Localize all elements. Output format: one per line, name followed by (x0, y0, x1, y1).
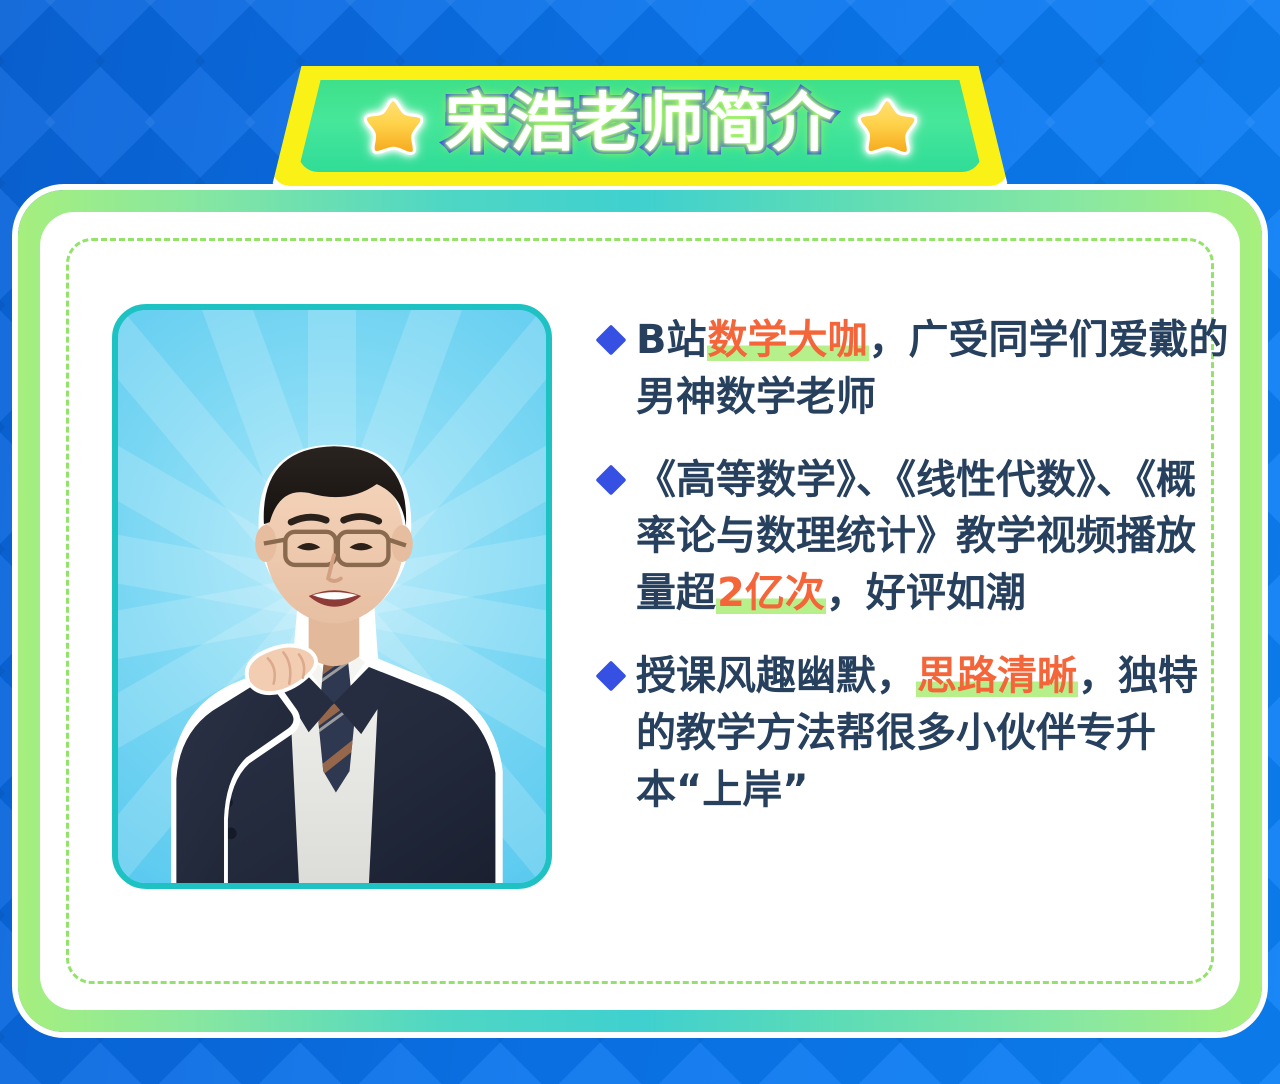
bullet-2-highlight: 2亿次 (716, 570, 826, 616)
teacher-figure-illustration (118, 310, 546, 883)
bullet-text-3: 授课风趣幽默，思路清晰，独特的教学方法帮很多小伙伴专升本“上岸” (636, 648, 1230, 818)
list-item: 授课风趣幽默，思路清晰，独特的教学方法帮很多小伙伴专升本“上岸” (600, 648, 1230, 818)
bullet-list: B站数学大咖，广受同学们爱戴的男神数学老师 《高等数学》、《线性代数》、《概率论… (600, 312, 1230, 844)
banner-title-row: 宋浩老师简介 (272, 66, 1008, 186)
bullet-3-segment-1: 授课风趣幽默， (636, 653, 916, 699)
list-item: 《高等数学》、《线性代数》、《概率论与数理统计》教学视频播放量超2亿次，好评如潮 (600, 452, 1230, 622)
card-inner-surface: B站数学大咖，广受同学们爱戴的男神数学老师 《高等数学》、《线性代数》、《概率论… (40, 212, 1240, 1010)
teacher-portrait (112, 304, 552, 889)
bullet-text-1: B站数学大咖，广受同学们爱戴的男神数学老师 (636, 312, 1230, 426)
star-icon-left (363, 97, 423, 155)
bullet-1-segment-1: B站 (636, 317, 707, 363)
diamond-bullet-icon (595, 660, 626, 691)
diamond-bullet-icon (595, 464, 626, 495)
page-title: 宋浩老师简介 (445, 92, 835, 156)
bullet-2-segment-3: ，好评如潮 (826, 570, 1026, 616)
bullet-3-highlight: 思路清晰 (916, 653, 1078, 699)
main-content-card: B站数学大咖，广受同学们爱戴的男神数学老师 《高等数学》、《线性代数》、《概率论… (18, 190, 1262, 1032)
diamond-bullet-icon (595, 324, 626, 355)
bullet-1-highlight: 数学大咖 (707, 317, 869, 363)
bullet-text-2: 《高等数学》、《线性代数》、《概率论与数理统计》教学视频播放量超2亿次，好评如潮 (636, 452, 1230, 622)
list-item: B站数学大咖，广受同学们爱戴的男神数学老师 (600, 312, 1230, 426)
star-icon-right (857, 97, 917, 155)
title-banner: 宋浩老师简介 (272, 66, 1008, 186)
